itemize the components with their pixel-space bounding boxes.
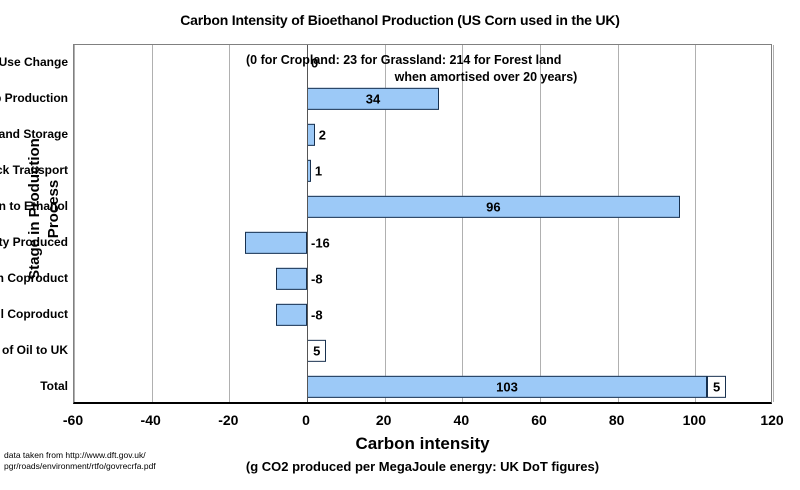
bar-value-label: 34 xyxy=(308,93,438,106)
x-tick-label: 120 xyxy=(742,412,800,428)
bar-row: -8 xyxy=(74,297,771,333)
x-axis-title: Carbon intensity xyxy=(73,434,772,454)
bar-row: 2 xyxy=(74,117,771,153)
source-note-line2: pgr/roads/environment/rtfo/govrecrfa.pdf xyxy=(4,461,156,472)
x-tick-label: 100 xyxy=(664,412,724,428)
bar-row: 1035 xyxy=(74,369,771,405)
bar-value-label: 1 xyxy=(315,165,322,178)
category-label: Electricity Produced xyxy=(0,236,68,248)
annotation-line-2: when amortised over 20 years) xyxy=(246,69,666,86)
category-label: Land Use Change xyxy=(0,56,68,68)
category-label: Drying and Storage xyxy=(0,128,68,140)
bar[interactable]: 34 xyxy=(307,88,439,110)
annotation-line-1: (0 for Cropland: 23 for Grassland: 214 f… xyxy=(246,52,666,69)
bar-row: 96 xyxy=(74,189,771,225)
chart-title: Carbon Intensity of Bioethanol Productio… xyxy=(0,12,800,28)
x-tick-label: 60 xyxy=(509,412,569,428)
bar[interactable]: 5 xyxy=(307,340,326,362)
gridline xyxy=(773,45,774,402)
category-label: Corn Oil Coproduct xyxy=(0,308,68,320)
category-label: Total xyxy=(0,380,68,392)
x-tick-label: 0 xyxy=(276,412,336,428)
bar-value-label: 103 xyxy=(308,381,706,394)
bar-stack-segment[interactable]: 5 xyxy=(707,376,726,398)
x-tick-label: -40 xyxy=(121,412,181,428)
bar[interactable] xyxy=(276,304,307,326)
x-axis-subtitle: (g CO2 produced per MegaJoule energy: UK… xyxy=(73,459,772,474)
zero-axis-line xyxy=(307,45,308,402)
bar-row: 1 xyxy=(74,153,771,189)
bar-value-label: -16 xyxy=(311,237,330,250)
bar-value-label: -8 xyxy=(311,309,323,322)
x-tick-label: -60 xyxy=(43,412,103,428)
bar[interactable]: 96 xyxy=(307,196,680,218)
category-label: Coal used to Process Corn to Ethanol xyxy=(0,200,68,212)
source-note: data taken from http://www.dft.gov.uk/ p… xyxy=(4,450,156,472)
bar-row: 5 xyxy=(74,333,771,369)
bar-value-label: -8 xyxy=(311,273,323,286)
category-label: Transport of Oil to UK xyxy=(0,344,68,356)
bar-value-label: 96 xyxy=(308,201,679,214)
x-tick-label: 40 xyxy=(431,412,491,428)
bar-value-label: 5 xyxy=(308,345,325,358)
bar[interactable]: 103 xyxy=(307,376,707,398)
category-label: Corn Gluten Coproduct xyxy=(0,272,68,284)
x-tick-label: 20 xyxy=(354,412,414,428)
bar-row: 34 xyxy=(74,81,771,117)
bar[interactable] xyxy=(245,232,307,254)
x-tick-label: -20 xyxy=(198,412,258,428)
bar[interactable] xyxy=(307,124,315,146)
source-note-line1: data taken from http://www.dft.gov.uk/ xyxy=(4,450,156,461)
bar-row: -16 xyxy=(74,225,771,261)
x-tick-label: 80 xyxy=(587,412,647,428)
bar-value-label: 2 xyxy=(319,129,326,142)
bar-value-label: 5 xyxy=(708,381,725,394)
plot-area: 0342196-16-8-851035 xyxy=(73,44,772,404)
category-label: Crop Production xyxy=(0,92,68,104)
bar-row: -8 xyxy=(74,261,771,297)
category-label: Feedstock Transport xyxy=(0,164,68,176)
land-use-change-annotation: (0 for Cropland: 23 for Grassland: 214 f… xyxy=(246,52,666,86)
bar[interactable] xyxy=(276,268,307,290)
